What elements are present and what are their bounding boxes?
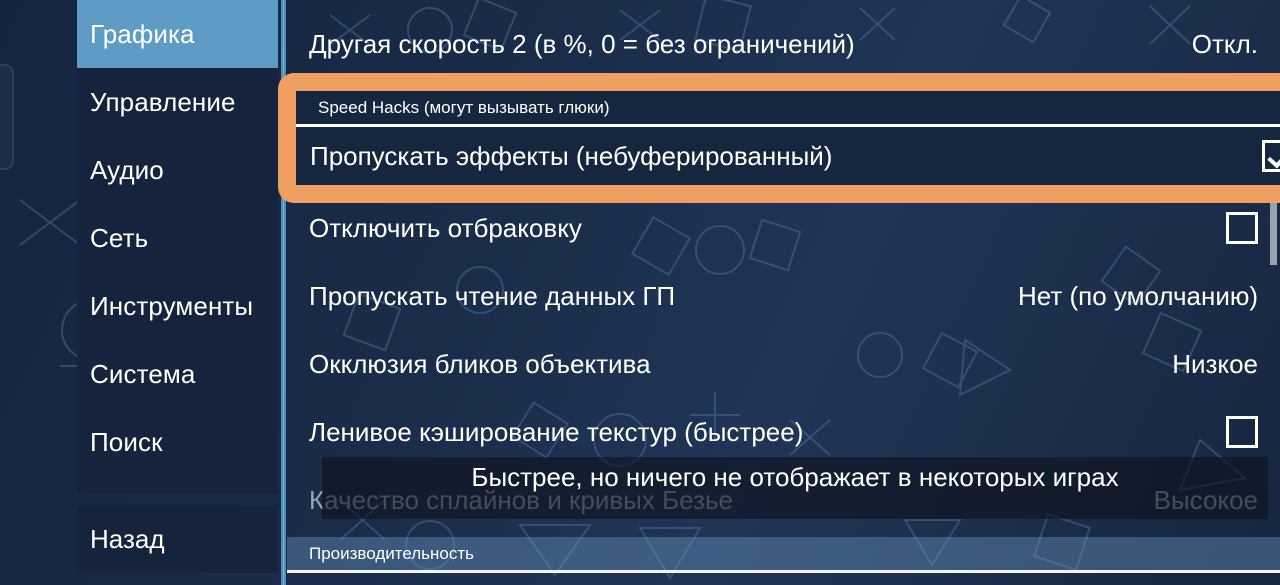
sidebar-item-label: Поиск xyxy=(90,427,163,458)
focus-highlight-box: Speed Hacks (могут вызывать глюки) Пропу… xyxy=(278,73,1280,203)
sidebar-item-label: Управление xyxy=(90,87,236,118)
app-root: Графика Управление Аудио Сеть Инструмент… xyxy=(0,0,1280,585)
sidebar-item-network[interactable]: Сеть xyxy=(77,204,278,272)
setting-row-alt-speed-2[interactable]: Другая скорость 2 (в %, 0 = без ограниче… xyxy=(287,10,1280,78)
setting-value: Откл. xyxy=(1192,29,1258,60)
sidebar: Графика Управление Аудио Сеть Инструмент… xyxy=(77,0,278,494)
setting-row-disable-culling[interactable]: Отключить отбраковку xyxy=(287,194,1280,262)
scrollbar-thumb[interactable] xyxy=(1270,203,1277,265)
tooltip-text: Быстрее, но ничего не отображает в некот… xyxy=(322,462,1268,493)
setting-row-skip-gpu-readbacks[interactable]: Пропускать чтение данных ГП Нет (по умол… xyxy=(287,262,1280,330)
section-header-label: Speed Hacks (могут вызывать глюки) xyxy=(318,98,610,118)
setting-label: Ленивое кэширование текстур (быстрее) xyxy=(309,417,1226,448)
sidebar-item-label: Система xyxy=(90,359,195,390)
setting-label: Другая скорость 2 (в %, 0 = без ограниче… xyxy=(309,29,1176,60)
offscreen-card xyxy=(0,64,14,170)
sidebar-item-label: Инструменты xyxy=(90,291,253,322)
sidebar-item-tools[interactable]: Инструменты xyxy=(77,272,278,340)
sidebar-item-label: Графика xyxy=(90,19,195,50)
checkbox-lazy-texture-caching[interactable] xyxy=(1226,416,1258,448)
section-header-performance: Производительность xyxy=(287,537,1280,573)
back-button[interactable]: Назад xyxy=(77,505,278,573)
sidebar-item-audio[interactable]: Аудио xyxy=(77,136,278,204)
back-button-label: Назад xyxy=(90,524,165,555)
setting-label: Окклюзия бликов объектива xyxy=(309,349,1156,380)
section-header-speed-hacks: Speed Hacks (могут вызывать глюки) xyxy=(296,91,1280,127)
setting-label: Пропускать эффекты (небуферированный) xyxy=(310,141,1262,172)
setting-value: Низкое xyxy=(1172,349,1258,380)
setting-row-lazy-texture-caching[interactable]: Ленивое кэширование текстур (быстрее) xyxy=(287,398,1280,466)
sidebar-gap xyxy=(77,494,278,505)
sidebar-item-label: Аудио xyxy=(90,155,164,186)
sidebar-item-search[interactable]: Поиск xyxy=(77,408,278,476)
focus-highlight-content: Speed Hacks (могут вызывать глюки) Пропу… xyxy=(296,91,1280,185)
setting-label: Пропускать чтение данных ГП xyxy=(309,281,1002,312)
setting-label: Отключить отбраковку xyxy=(309,213,1226,244)
sidebar-item-label: Сеть xyxy=(90,223,148,254)
setting-row-skip-buffer-effects[interactable]: Пропускать эффекты (небуферированный) xyxy=(296,127,1280,185)
checkbox-disable-culling[interactable] xyxy=(1226,212,1258,244)
sidebar-item-controls[interactable]: Управление xyxy=(77,68,278,136)
setting-value: Нет (по умолчанию) xyxy=(1018,281,1258,312)
section-header-label: Производительность xyxy=(309,544,474,564)
sidebar-item-system[interactable]: Система xyxy=(77,340,278,408)
checkbox-skip-buffer-effects[interactable] xyxy=(1262,140,1280,172)
setting-row-lens-flare-occlusion[interactable]: Окклюзия бликов объектива Низкое xyxy=(287,330,1280,398)
sidebar-item-graphics[interactable]: Графика xyxy=(77,0,278,68)
